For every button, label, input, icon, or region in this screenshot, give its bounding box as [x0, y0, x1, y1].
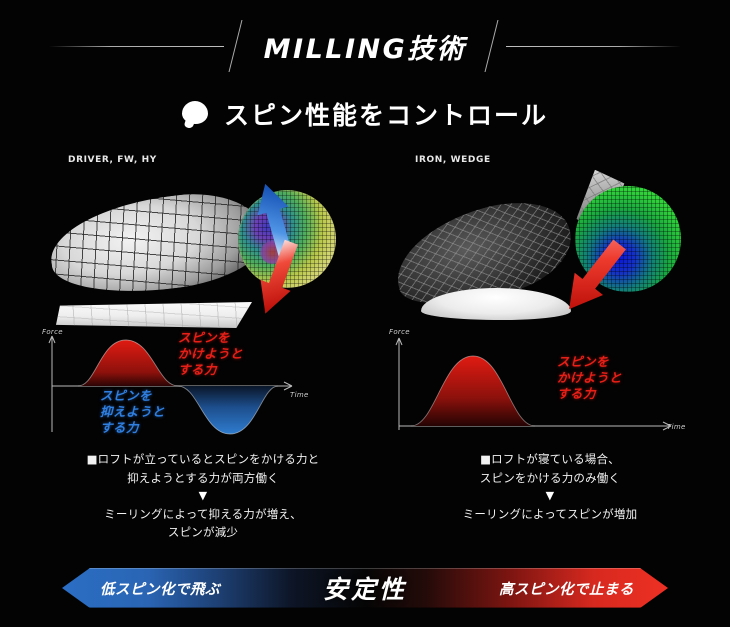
header-slash-left	[224, 20, 250, 72]
header-rule-left	[49, 46, 224, 47]
caption-arrow-down-icon: ▼	[38, 488, 368, 505]
caption-result-line: スピンが減少	[168, 525, 238, 539]
wave-label-spin-suppress-driver: スピンを 抑えようと する力	[100, 388, 165, 436]
scale-label-high-spin: 高スピン化で止まる	[499, 568, 634, 608]
caption-arrow-down-icon: ▼	[385, 488, 715, 505]
arrow-group-iron	[543, 230, 653, 322]
arrow-group-driver	[223, 172, 333, 320]
page-title: MILLING技術	[250, 27, 481, 66]
spin-stability-scale-bar: 低スピン化で飛ぶ 安定性 高スピン化で止まる	[62, 568, 668, 608]
caption-iron: ■ロフトが寝ている場合、 スピンをかける力のみ働く ▼ ミーリングによってスピン…	[385, 450, 715, 523]
caption-result-line: ミーリングによってスピンが増加	[463, 507, 638, 521]
caption-line: スピンをかける力のみ働く	[480, 471, 620, 485]
speech-bubble-icon	[182, 101, 210, 128]
header-rule-right	[506, 46, 681, 47]
simulation-iron	[385, 168, 715, 320]
header-slash-right	[480, 20, 506, 72]
hump-chart-iron	[385, 326, 715, 446]
simulation-driver	[38, 168, 368, 320]
caption-line: ■ロフトが寝ている場合、	[480, 452, 620, 466]
subtitle-row: スピン性能をコントロール	[0, 96, 730, 132]
panel-driver: DRIVER, FW, HY	[38, 150, 368, 550]
red-down-arrow	[555, 233, 634, 320]
page-header: MILLING技術	[0, 18, 730, 74]
caption-driver: ■ロフトが立っているとスピンをかける力と 抑えようとする力が両方働く ▼ ミーリ…	[38, 450, 368, 542]
panel-label-driver: DRIVER, FW, HY	[68, 155, 157, 165]
subtitle-text: スピン性能をコントロール	[224, 96, 548, 132]
wave-label-spin-apply-iron: スピンを かけようと する力	[557, 354, 622, 402]
caption-line: 抑えようとする力が両方働く	[127, 471, 279, 485]
panel-label-iron: IRON, WEDGE	[415, 155, 491, 165]
caption-result-line: ミーリングによって抑える力が増え、	[104, 507, 302, 521]
caption-line: ■ロフトが立っているとスピンをかける力と	[87, 452, 320, 466]
graph-iron: Force Time スピンを かけようと	[385, 326, 715, 446]
panel-iron: IRON, WEDGE Force Tim	[385, 150, 715, 550]
milling-technology-infographic: MILLING技術 スピン性能をコントロール DRIVER, FW, HY	[0, 0, 730, 627]
wave-label-spin-apply-driver: スピンを かけようと する力	[178, 330, 243, 378]
graph-driver: Force Time	[38, 326, 368, 446]
